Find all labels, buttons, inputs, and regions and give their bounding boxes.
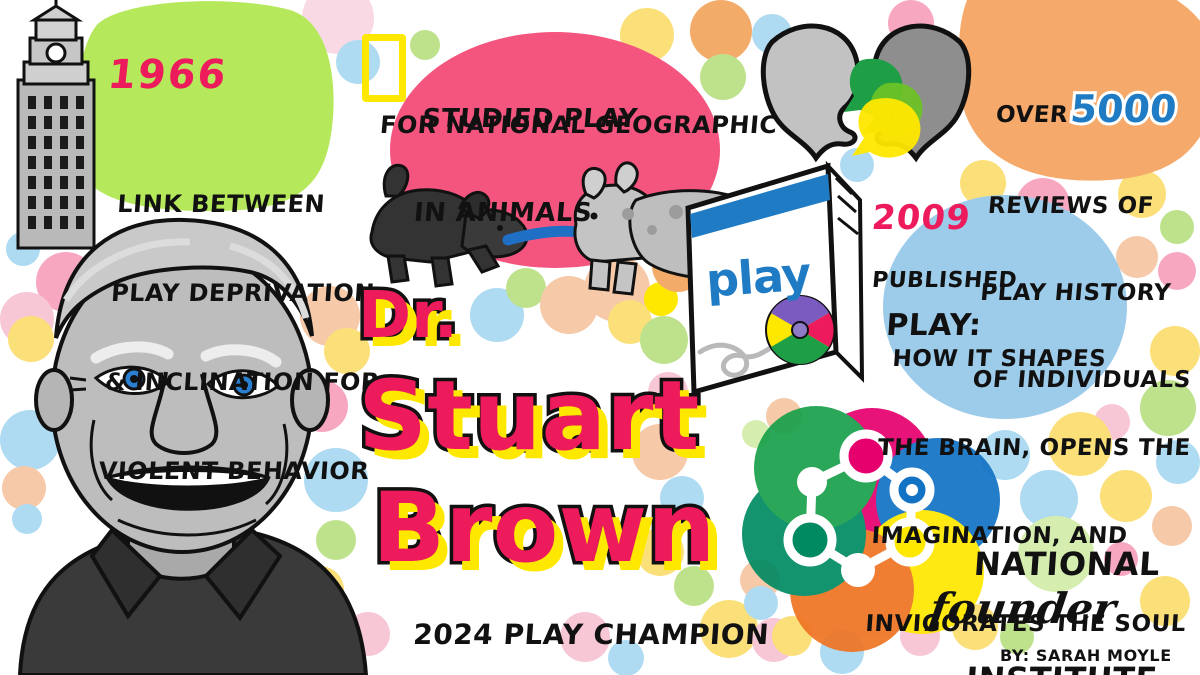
title-line-3: Brown: [372, 484, 716, 572]
book-title-line2: THE BRAIN, OPENS THE: [877, 434, 1199, 463]
year-1966: 1966: [106, 55, 385, 96]
title-line-2: Stuart: [358, 372, 716, 460]
natgeo-line3: FOR NATIONAL GEOGRAPHIC: [379, 113, 779, 137]
natgeo-study-block: STUDIED PLAY IN ANIMALS: [407, 42, 644, 292]
infographic-poster: 1966 LINK BETWEEN PLAY DEPRIVATION & INC…: [0, 0, 1200, 675]
national-geographic-logo-icon: [362, 34, 406, 102]
book-title-line1: HOW IT SHAPES: [883, 346, 1107, 372]
reviews-word-over: OVER: [995, 101, 1070, 130]
year-2009: 2009: [870, 201, 1019, 236]
text-layer: 1966 LINK BETWEEN PLAY DEPRIVATION & INC…: [0, 0, 1200, 675]
institute-role-founder: founder: [927, 584, 1119, 633]
book-cover-word: play: [704, 246, 812, 307]
fact-1966-line1: LINK BETWEEN: [116, 190, 393, 220]
page-title: Dr. Stuart Brown: [358, 258, 716, 601]
fact-1966-line2: PLAY DEPRIVATION: [110, 279, 387, 309]
award-line1: 2024 PLAY CHAMPION: [378, 618, 805, 651]
institute-line1: NATIONAL: [973, 545, 1167, 583]
fact-1966-block: 1966 LINK BETWEEN PLAY DEPRIVATION & INC…: [108, 22, 383, 579]
reviews-line2: REVIEWS OF: [987, 192, 1200, 221]
fact-1966-line3: & INCLINATION FOR: [104, 368, 381, 398]
institute-block: NATIONAL INSTITUTE FOR PLAY: [951, 468, 1172, 675]
fact-1966-line4: VIOLENT BEHAVIOR: [98, 457, 375, 487]
author-credit: BY: SARAH MOYLE: [1000, 648, 1172, 664]
title-line-1: Dr.: [358, 287, 716, 346]
natgeo-line2: IN ANIMALS: [413, 198, 631, 229]
book-title-lead: PLAY:: [885, 307, 1200, 345]
reviews-count: 5000: [1068, 86, 1178, 134]
